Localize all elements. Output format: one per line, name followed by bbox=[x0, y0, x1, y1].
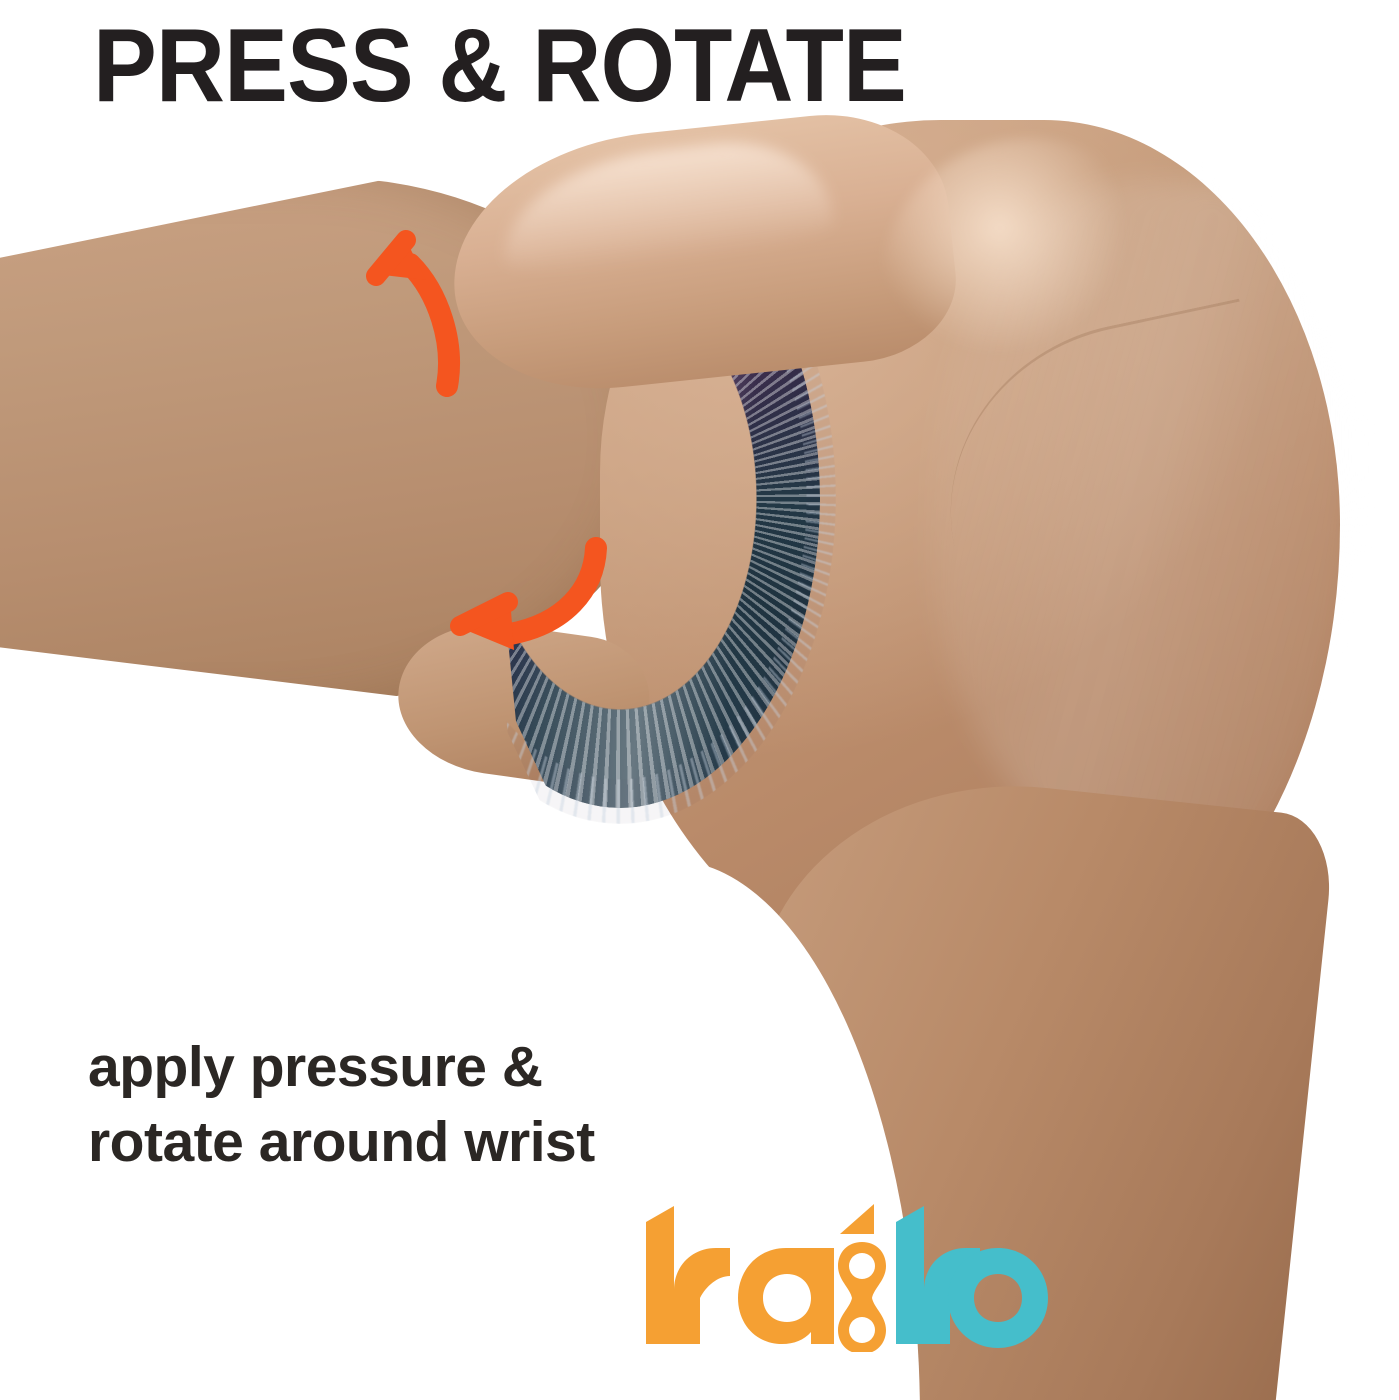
product-photo: A hand pressing a purple and teal spiky … bbox=[0, 0, 1399, 1400]
photo-alt-text: A hand pressing a purple and teal spiky … bbox=[0, 0, 1, 1]
logo-letter-i-dumbbell-orange bbox=[838, 1204, 886, 1352]
logo-i-upper-hole bbox=[849, 1253, 875, 1279]
kaiko-logo: kaiko bbox=[634, 1204, 1058, 1352]
instruction-graphic: A hand pressing a purple and teal spiky … bbox=[0, 0, 1399, 1400]
rotate-arrow-up-icon bbox=[352, 214, 502, 394]
logo-letter-a-orange bbox=[738, 1248, 834, 1344]
rotate-arrow-down-icon bbox=[448, 532, 618, 662]
logo-letter-k-orange bbox=[646, 1206, 730, 1344]
instruction-caption: apply pressure & rotate around wrist bbox=[88, 1030, 595, 1180]
logo-i-lower-hole bbox=[849, 1317, 875, 1343]
logo-letter-o-teal bbox=[948, 1248, 1048, 1348]
page-title: PRESS & ROTATE bbox=[93, 12, 906, 121]
logo-i-triangle-dot bbox=[840, 1204, 874, 1234]
